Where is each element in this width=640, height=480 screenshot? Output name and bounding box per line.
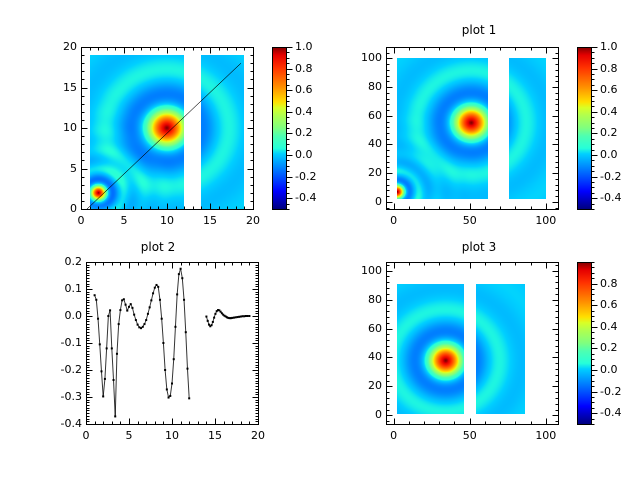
panel-bottom-right-colorbar-tick-label: 0.4 bbox=[600, 321, 640, 332]
panel-bottom-right-xtick-label: 100 bbox=[526, 430, 566, 441]
panel-bottom-right-colorbar-tick-label: 0.0 bbox=[600, 364, 640, 375]
panel-top-left-ytick-label: 10 bbox=[35, 122, 77, 133]
figure-canvas-root: plot 1 plot 2 plot 3 0510152005101520-0.… bbox=[0, 0, 640, 480]
panel-top-right-xtick-label: 100 bbox=[526, 215, 566, 226]
panel-bottom-left-xtick-label: 20 bbox=[238, 430, 278, 441]
panel-bottom-left-ytick-label: 0.2 bbox=[40, 256, 82, 267]
panel-bottom-left-ytick-label: 0.0 bbox=[40, 310, 82, 321]
panel-bottom-left-ytick-label: -0.1 bbox=[40, 337, 82, 348]
panel-top-left-colorbar-tick-label: 1.0 bbox=[295, 41, 335, 52]
panel-top-right-ytick-label: 20 bbox=[340, 167, 382, 178]
panel-top-left-ytick-label: 5 bbox=[35, 163, 77, 174]
panel-top-left-colorbar-tick-label: 0.6 bbox=[295, 84, 335, 95]
panel-bottom-right-ytick-label: 20 bbox=[340, 380, 382, 391]
panel-bottom-right-colorbar-tick-label: 0.2 bbox=[600, 342, 640, 353]
panel-top-right-ytick-label: 0 bbox=[340, 196, 382, 207]
panel-bottom-left-xtick-label: 10 bbox=[152, 430, 192, 441]
panel-bottom-left-ytick-label: -0.2 bbox=[40, 364, 82, 375]
panel-bottom-right-xtick-label: 0 bbox=[374, 430, 414, 441]
panel-top-right-ytick-label: 60 bbox=[340, 110, 382, 121]
panel-top-right-colorbar-tick-label: 0.0 bbox=[600, 149, 640, 160]
panel-bottom-right-colorbar-tick-label: 0.6 bbox=[600, 299, 640, 310]
panel-top-left-ytick-label: 20 bbox=[35, 41, 77, 52]
panel-top-left-colorbar-tick-label: -0.4 bbox=[295, 192, 335, 203]
panel-bottom-right-colorbar-tick-label: -0.2 bbox=[600, 386, 640, 397]
panel-bottom-right-ytick-label: 100 bbox=[340, 265, 382, 276]
panel-top-right-colorbar-tick-label: 0.8 bbox=[600, 63, 640, 74]
panel-top-right-colorbar-tick-label: 0.6 bbox=[600, 84, 640, 95]
panel-top-left-colorbar-tick-label: -0.2 bbox=[295, 171, 335, 182]
panel-top-left-colorbar-tick-label: 0.4 bbox=[295, 106, 335, 117]
panel-top-left-colorbar-tick-label: 0.8 bbox=[295, 63, 335, 74]
panel-top-right-colorbar-tick-label: 0.2 bbox=[600, 127, 640, 138]
panel-top-right-colorbar-tick-label: 1.0 bbox=[600, 41, 640, 52]
panel-top-right-colorbar-tick-label: 0.4 bbox=[600, 106, 640, 117]
panel-bottom-right-xtick-label: 50 bbox=[450, 430, 490, 441]
panel-bottom-right-colorbar-tick-label: 0.8 bbox=[600, 278, 640, 289]
panel-top-left-colorbar-tick-label: 0.0 bbox=[295, 149, 335, 160]
panel-top-left-xtick-label: 20 bbox=[233, 215, 273, 226]
panel-top-left-colorbar-tick-label: 0.2 bbox=[295, 127, 335, 138]
panel-top-right-ytick-label: 100 bbox=[340, 52, 382, 63]
panel-bottom-right-ytick-label: 60 bbox=[340, 323, 382, 334]
panel-top-right-xtick-label: 0 bbox=[374, 215, 414, 226]
panel-bottom-left-xtick-label: 0 bbox=[66, 430, 106, 441]
panel-top-left-xtick-label: 15 bbox=[190, 215, 230, 226]
panel-top-left-xtick-label: 10 bbox=[147, 215, 187, 226]
panel-bottom-left-xtick-label: 5 bbox=[109, 430, 149, 441]
panel-top-right-xtick-label: 50 bbox=[450, 215, 490, 226]
panel-bottom-left-ytick-label: -0.4 bbox=[40, 418, 82, 429]
panel-bottom-right-ytick-label: 80 bbox=[340, 294, 382, 305]
panel-bottom-left-xtick-label: 15 bbox=[195, 430, 235, 441]
panel-bottom-left-ytick-label: 0.1 bbox=[40, 283, 82, 294]
panel-top-left-ytick-label: 0 bbox=[35, 203, 77, 214]
panel-bottom-right-ytick-label: 40 bbox=[340, 351, 382, 362]
panel-top-left-ytick-label: 15 bbox=[35, 82, 77, 93]
panel-bottom-right-ytick-label: 0 bbox=[340, 409, 382, 420]
panel-top-left-xtick-label: 0 bbox=[61, 215, 101, 226]
tick-label-layer: 0510152005101520-0.4-0.20.00.20.40.60.81… bbox=[0, 0, 640, 480]
panel-top-right-ytick-label: 40 bbox=[340, 138, 382, 149]
panel-bottom-left-ytick-label: -0.3 bbox=[40, 391, 82, 402]
panel-top-left-xtick-label: 5 bbox=[104, 215, 144, 226]
panel-top-right-ytick-label: 80 bbox=[340, 81, 382, 92]
panel-bottom-right-colorbar-tick-label: -0.4 bbox=[600, 407, 640, 418]
panel-top-right-colorbar-tick-label: -0.2 bbox=[600, 171, 640, 182]
panel-top-right-colorbar-tick-label: -0.4 bbox=[600, 192, 640, 203]
